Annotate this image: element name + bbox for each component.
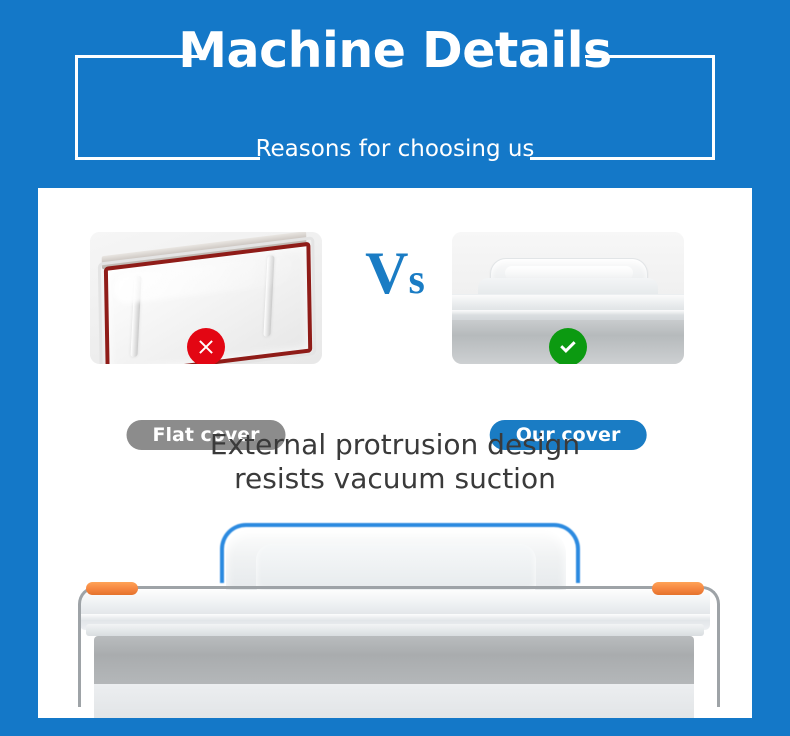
machine-front-body [94, 684, 694, 718]
comparison-section: Flat cover Vs [38, 188, 752, 373]
versus-s: s [408, 257, 424, 303]
promo-banner: Machine Details Reasons for choosing us [0, 0, 790, 736]
feature-headline-line-1: External protrusion design [38, 428, 752, 462]
check-mark-icon [549, 328, 587, 364]
product-photo [38, 518, 752, 718]
handle-grip-right [652, 582, 704, 595]
feature-headline-line-2: resists vacuum suction [38, 462, 752, 496]
content-panel: Flat cover Vs [38, 188, 752, 718]
page-subtitle: Reasons for choosing us [0, 138, 790, 161]
header: Machine Details Reasons for choosing us [0, 0, 790, 188]
x-mark-icon [187, 328, 225, 364]
versus-v: V [365, 240, 408, 306]
comparison-card-our-cover: Our cover [452, 232, 684, 364]
handle-grip-left [86, 582, 138, 595]
our-cover-image [452, 232, 684, 364]
page-title: Machine Details [0, 26, 790, 75]
machine-front-band [94, 636, 694, 684]
feature-headline: External protrusion design resists vacuu… [38, 428, 752, 496]
